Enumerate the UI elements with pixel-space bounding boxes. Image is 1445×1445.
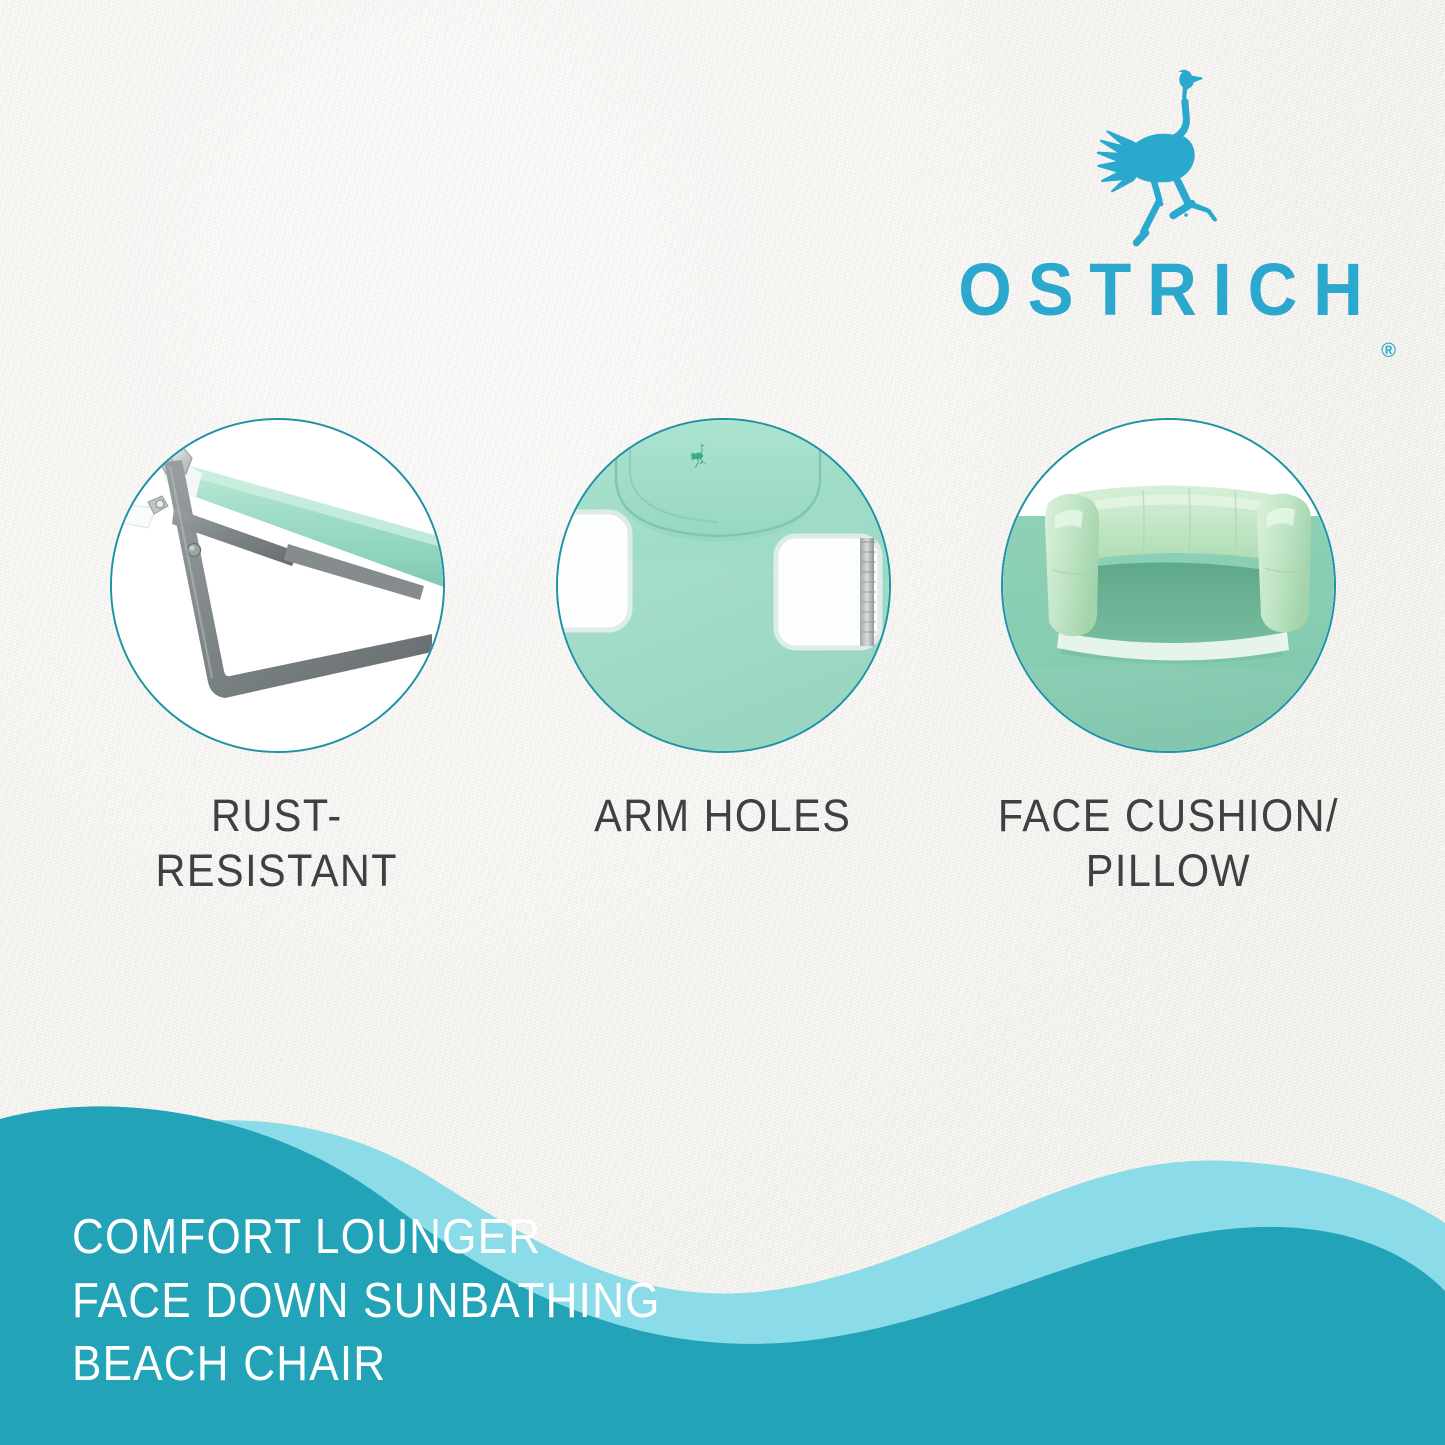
feature-image-circle xyxy=(556,418,891,753)
feature-arm-holes: ARM HOLES xyxy=(533,418,913,844)
feature-image-circle xyxy=(1001,418,1336,753)
brand-logo: OSTRICH ® xyxy=(930,62,1390,332)
bottom-wave-banner: COMFORT LOUNGER FACE DOWN SUNBATHING BEA… xyxy=(0,1105,1445,1445)
feature-caption: ARM HOLES xyxy=(594,789,851,844)
feature-image-circle xyxy=(110,418,445,753)
product-feature-graphic: OSTRICH ® xyxy=(0,0,1445,1445)
brand-wordmark: OSTRICH xyxy=(942,255,1378,325)
aluminum-frame-hinge-photo xyxy=(112,420,443,751)
face-cushion-pillow-photo xyxy=(1003,420,1334,751)
feature-highlights: RUST- RESISTANT xyxy=(0,418,1445,938)
feature-caption: FACE CUSHION/ PILLOW xyxy=(997,789,1338,899)
feature-rust-resistant: RUST- RESISTANT xyxy=(87,418,467,899)
feature-face-cushion-pillow: FACE CUSHION/ PILLOW xyxy=(978,418,1358,899)
arm-holes-fabric-photo xyxy=(558,420,889,751)
product-title: COMFORT LOUNGER FACE DOWN SUNBATHING BEA… xyxy=(72,1206,661,1397)
feature-caption: RUST- RESISTANT xyxy=(156,789,399,899)
registered-trademark-icon: ® xyxy=(1381,340,1396,363)
running-ostrich-icon xyxy=(1060,62,1260,247)
